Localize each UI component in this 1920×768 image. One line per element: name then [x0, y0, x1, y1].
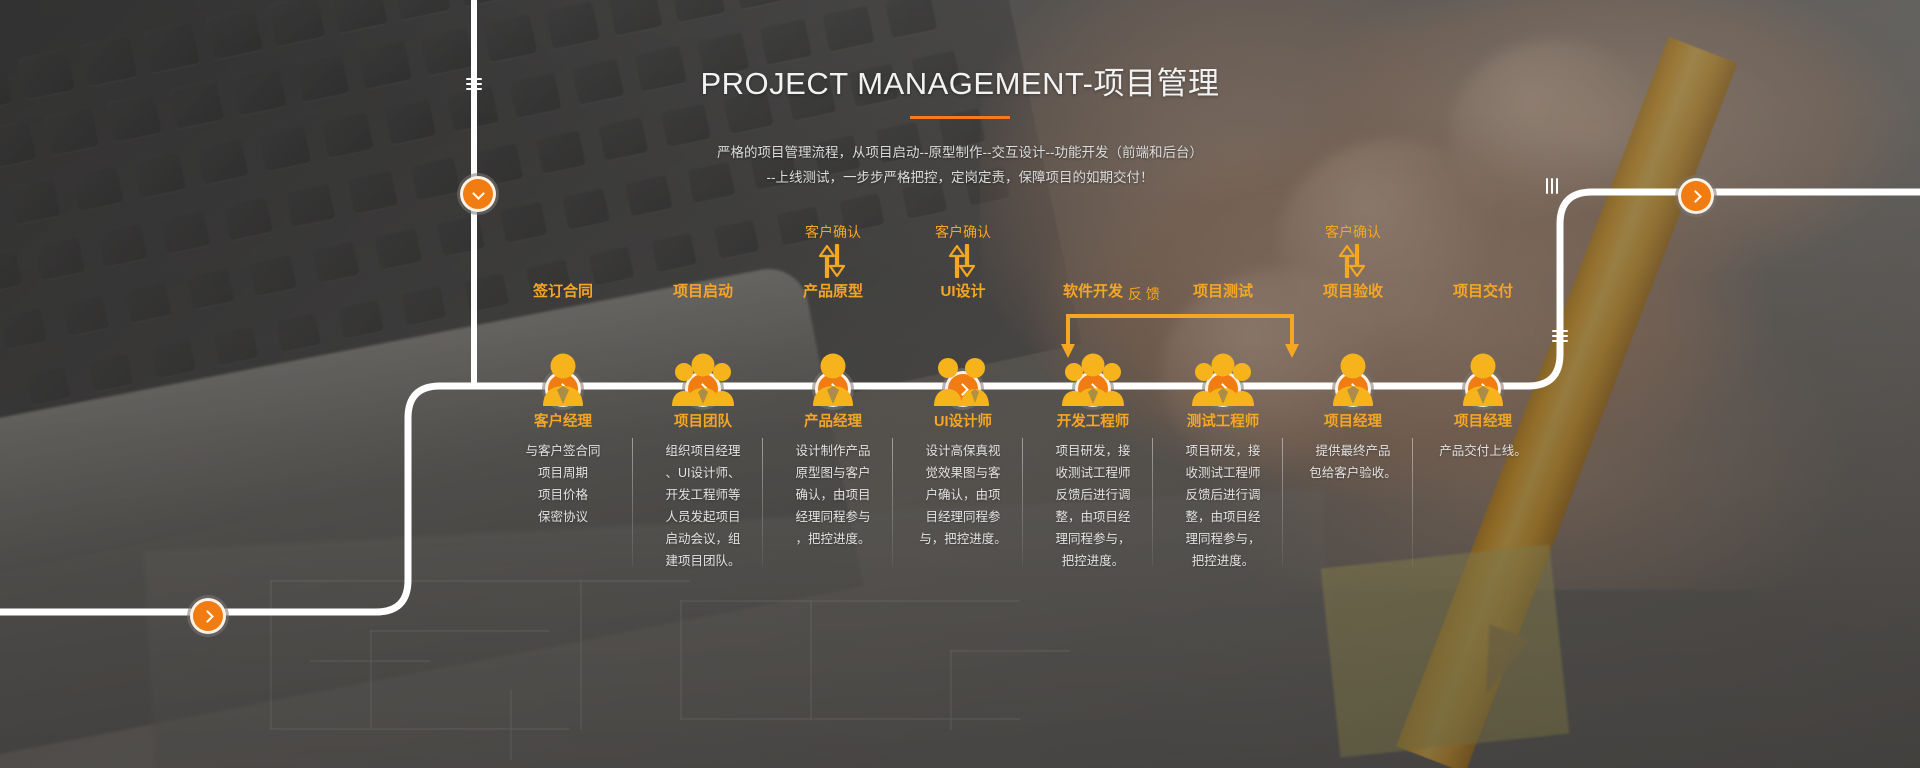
column-divider	[1022, 438, 1023, 566]
step-confirm-label: 客户确认	[900, 222, 1026, 242]
step-role-name: 开发工程师	[1030, 410, 1156, 431]
people-group-icon	[671, 352, 735, 406]
step-description: 组织项目经理、UI设计师、开发工程师等人员发起项目启动会议，组建项目团队。	[634, 440, 772, 572]
step-description-line: 启动会议，组	[634, 528, 772, 550]
branch-node-left[interactable]	[190, 598, 226, 634]
step-confirm-label: 客户确认	[770, 222, 896, 242]
step-description-line: 反馈后进行调	[1024, 484, 1162, 506]
step-description-line: 户确认，由项	[894, 484, 1032, 506]
column-divider	[1282, 438, 1283, 566]
step-role-name: 客户经理	[500, 410, 626, 431]
person-icon	[1451, 352, 1515, 406]
up-down-arrow-icon	[1336, 244, 1370, 278]
up-down-arrow-icon	[816, 244, 850, 278]
step-name: 项目交付	[1420, 280, 1546, 301]
step-description-line: 觉效果图与客	[894, 462, 1032, 484]
person-icon	[1321, 352, 1385, 406]
step-description-line: 与客户签合同	[494, 440, 632, 462]
column-divider	[1412, 438, 1413, 566]
step-description-line: 、UI设计师、	[634, 462, 772, 484]
step-description-line: 项目周期	[494, 462, 632, 484]
step-name: UI设计	[900, 280, 1026, 301]
step-description: 项目研发，接收测试工程师反馈后进行调整，由项目经理同程参与，把控进度。	[1154, 440, 1292, 572]
branch-node-top[interactable]	[460, 176, 496, 212]
step-name: 项目启动	[640, 280, 766, 301]
step-name: 软件开发	[1030, 280, 1156, 301]
step-role-name: 测试工程师	[1160, 410, 1286, 431]
people-group-icon	[1191, 352, 1255, 406]
step-description-line: 开发工程师等	[634, 484, 772, 506]
step-name: 项目测试	[1160, 280, 1286, 301]
step-description-line: 目经理同程参	[894, 506, 1032, 528]
step-description-line: 原型图与客户	[764, 462, 902, 484]
step-description-line: 收测试工程师	[1024, 462, 1162, 484]
branch-node-right[interactable]	[1678, 178, 1714, 214]
step-description-line: 建项目团队。	[634, 550, 772, 572]
column-divider	[762, 438, 763, 566]
step-description-line: 把控进度。	[1154, 550, 1292, 572]
step-description: 产品交付上线。	[1414, 440, 1552, 462]
step-description-line: 整，由项目经	[1154, 506, 1292, 528]
column-divider	[1152, 438, 1153, 566]
step-description-line: 组织项目经理	[634, 440, 772, 462]
step-description-line: 经理同程参与	[764, 506, 902, 528]
step-description-line: 确认，由项目	[764, 484, 902, 506]
step-description-line: 提供最终产品	[1284, 440, 1422, 462]
step-name: 项目验收	[1290, 280, 1416, 301]
step-description-line: 理同程参与，	[1154, 528, 1292, 550]
step-description-line: 项目研发，接	[1024, 440, 1162, 462]
step-description-line: 包给客户验收。	[1284, 462, 1422, 484]
person-icon	[801, 352, 865, 406]
step-description-line: 设计高保真视	[894, 440, 1032, 462]
subtitle-line-2: --上线测试，一步步严格把控，定岗定责，保障项目的如期交付！	[600, 165, 1320, 190]
step-role-name: 产品经理	[770, 410, 896, 431]
page-title: PROJECT MANAGEMENT-项目管理	[0, 58, 1920, 103]
step-role-name: UI设计师	[900, 410, 1026, 431]
people-group-icon	[1061, 352, 1125, 406]
up-down-arrow-icon	[946, 244, 980, 278]
step-description-line: 设计制作产品	[764, 440, 902, 462]
people-pair-icon	[931, 352, 995, 406]
column-divider	[632, 438, 633, 566]
step-description-line: 收测试工程师	[1154, 462, 1292, 484]
step-role-name: 项目团队	[640, 410, 766, 431]
step-description-line: 把控进度。	[1024, 550, 1162, 572]
step-description-line: 人员发起项目	[634, 506, 772, 528]
step-description-line: 反馈后进行调	[1154, 484, 1292, 506]
step-name: 产品原型	[770, 280, 896, 301]
step-description: 与客户签合同项目周期项目价格保密协议	[494, 440, 632, 528]
column-divider	[892, 438, 893, 566]
chevron-right-icon	[201, 610, 214, 623]
step-description: 项目研发，接收测试工程师反馈后进行调整，由项目经理同程参与，把控进度。	[1024, 440, 1162, 572]
subtitle-line-1: 严格的项目管理流程，从项目启动--原型制作--交互设计--功能开发（前端和后台）	[600, 140, 1320, 165]
page-subtitle: 严格的项目管理流程，从项目启动--原型制作--交互设计--功能开发（前端和后台）…	[600, 140, 1320, 190]
step-confirm-label: 客户确认	[1290, 222, 1416, 242]
step-name: 签订合同	[500, 280, 626, 301]
step-description: 设计制作产品原型图与客户确认，由项目经理同程参与，把控进度。	[764, 440, 902, 550]
branch-node-left[interactable]	[190, 598, 226, 634]
branch-node-top[interactable]	[460, 176, 496, 212]
step-description: 提供最终产品包给客户验收。	[1284, 440, 1422, 484]
step-description: 设计高保真视觉效果图与客户确认，由项目经理同程参与，把控进度。	[894, 440, 1032, 550]
chevron-down-icon	[472, 187, 485, 200]
step-description-line: 项目价格	[494, 484, 632, 506]
chevron-right-icon	[1689, 190, 1702, 203]
step-role-name: 项目经理	[1420, 410, 1546, 431]
step-description-line: 理同程参与，	[1024, 528, 1162, 550]
step-description-line: 与，把控进度。	[894, 528, 1032, 550]
person-icon	[531, 352, 595, 406]
step-description-line: 产品交付上线。	[1414, 440, 1552, 462]
branch-node-right[interactable]	[1678, 178, 1714, 214]
title-underline	[910, 116, 1010, 119]
step-description-line: ，把控进度。	[764, 528, 902, 550]
step-description-line: 保密协议	[494, 506, 632, 528]
step-description-line: 项目研发，接	[1154, 440, 1292, 462]
step-role-name: 项目经理	[1290, 410, 1416, 431]
step-description-line: 整，由项目经	[1024, 506, 1162, 528]
